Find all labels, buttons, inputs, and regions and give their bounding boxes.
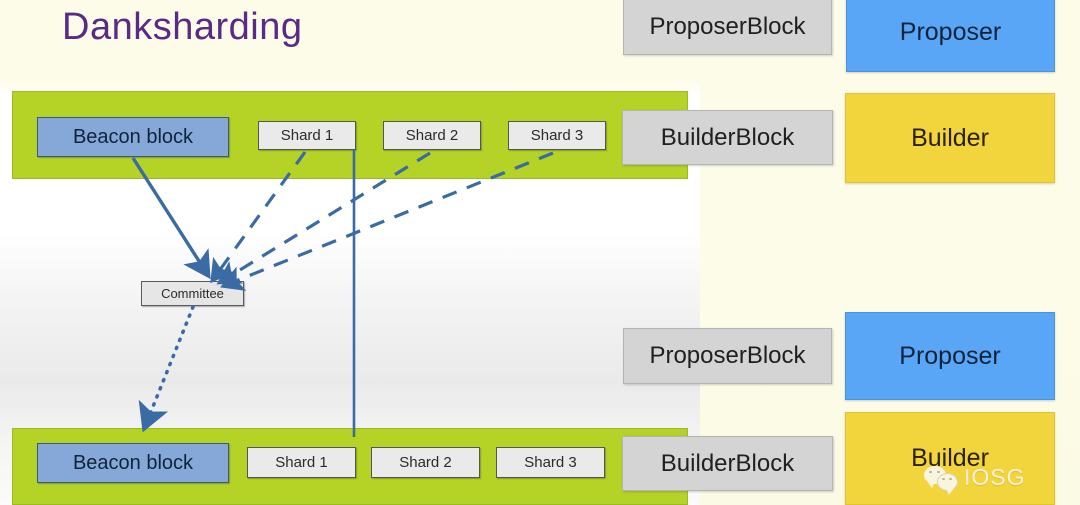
beacon-block-bottom: Beacon block: [37, 443, 229, 483]
watermark-label: IOSG: [964, 464, 1026, 491]
proposer-actor-bottom: Proposer: [845, 312, 1055, 400]
committee-box: Committee: [141, 281, 244, 306]
page-title: Danksharding: [62, 6, 302, 49]
builder-actor-top: Builder: [845, 93, 1055, 183]
proposer-block-top: ProposerBlock: [623, 0, 832, 55]
shard-box-top-2: Shard 2: [383, 121, 481, 150]
proposer-block-bottom: ProposerBlock: [623, 328, 832, 384]
wechat-icon: [924, 466, 958, 490]
builder-block-top: BuilderBlock: [622, 110, 833, 165]
shard-box-bottom-1: Shard 1: [247, 447, 356, 478]
shard-box-top-3: Shard 3: [508, 121, 606, 150]
shard-box-top-1: Shard 1: [258, 121, 356, 150]
proposer-actor-top: Proposer: [846, 0, 1055, 72]
beacon-block-top: Beacon block: [37, 117, 229, 157]
shard-box-bottom-3: Shard 3: [496, 447, 605, 478]
shard-box-bottom-2: Shard 2: [371, 447, 480, 478]
builder-block-bottom: BuilderBlock: [622, 436, 833, 491]
slide-canvas: Danksharding Beacon block Shard 1 Shard …: [0, 0, 1080, 505]
watermark: IOSG: [924, 464, 1026, 491]
